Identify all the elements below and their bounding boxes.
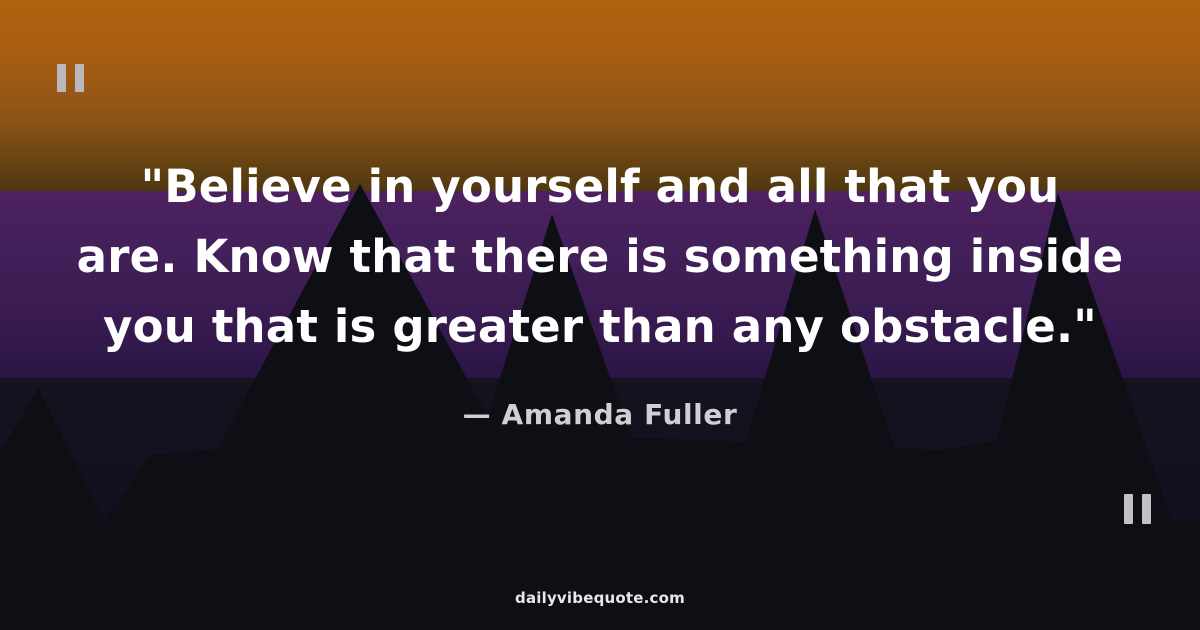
quote-attribution: — Amanda Fuller <box>0 398 1200 431</box>
quote-mark-icon-open <box>57 64 84 92</box>
quote-line-2: are. Know that there is something inside <box>0 222 1200 292</box>
quote-bar <box>1124 494 1133 524</box>
quote-line-3: you that is greater than any obstacle." <box>0 292 1200 362</box>
quote-mark-icon-close <box>1124 494 1151 524</box>
quote-bar <box>75 64 84 92</box>
quote-bar <box>1142 494 1151 524</box>
quote-line-1: "Believe in yourself and all that you <box>0 152 1200 222</box>
site-watermark: dailyvibequote.com <box>0 589 1200 607</box>
quote-bar <box>57 64 66 92</box>
quote-card: "Believe in yourself and all that you ar… <box>0 0 1200 630</box>
quote-text: "Believe in yourself and all that you ar… <box>0 152 1200 362</box>
